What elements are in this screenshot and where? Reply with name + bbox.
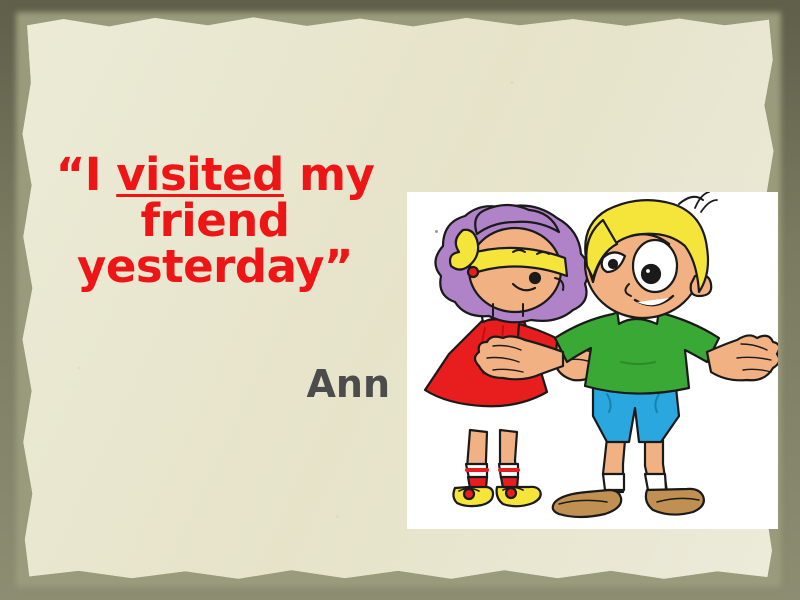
quote-open-quote: “ — [56, 148, 85, 201]
quote-text-block: “I visited my friend yesterday” — [45, 152, 385, 290]
quote-line-2: friend — [45, 198, 385, 244]
quote-line-1-before: I — [85, 148, 116, 201]
cartoon-children-illustration — [407, 192, 778, 529]
quote-attribution: Ann — [45, 362, 390, 406]
quote-line-1: “I visited my — [45, 152, 385, 198]
slide-canvas: “I visited my friend yesterday” Ann — [0, 0, 800, 600]
quote-line-3: yesterday” — [45, 244, 385, 290]
clipart-panel — [407, 192, 778, 529]
quote-line-1-after: my — [284, 148, 374, 201]
